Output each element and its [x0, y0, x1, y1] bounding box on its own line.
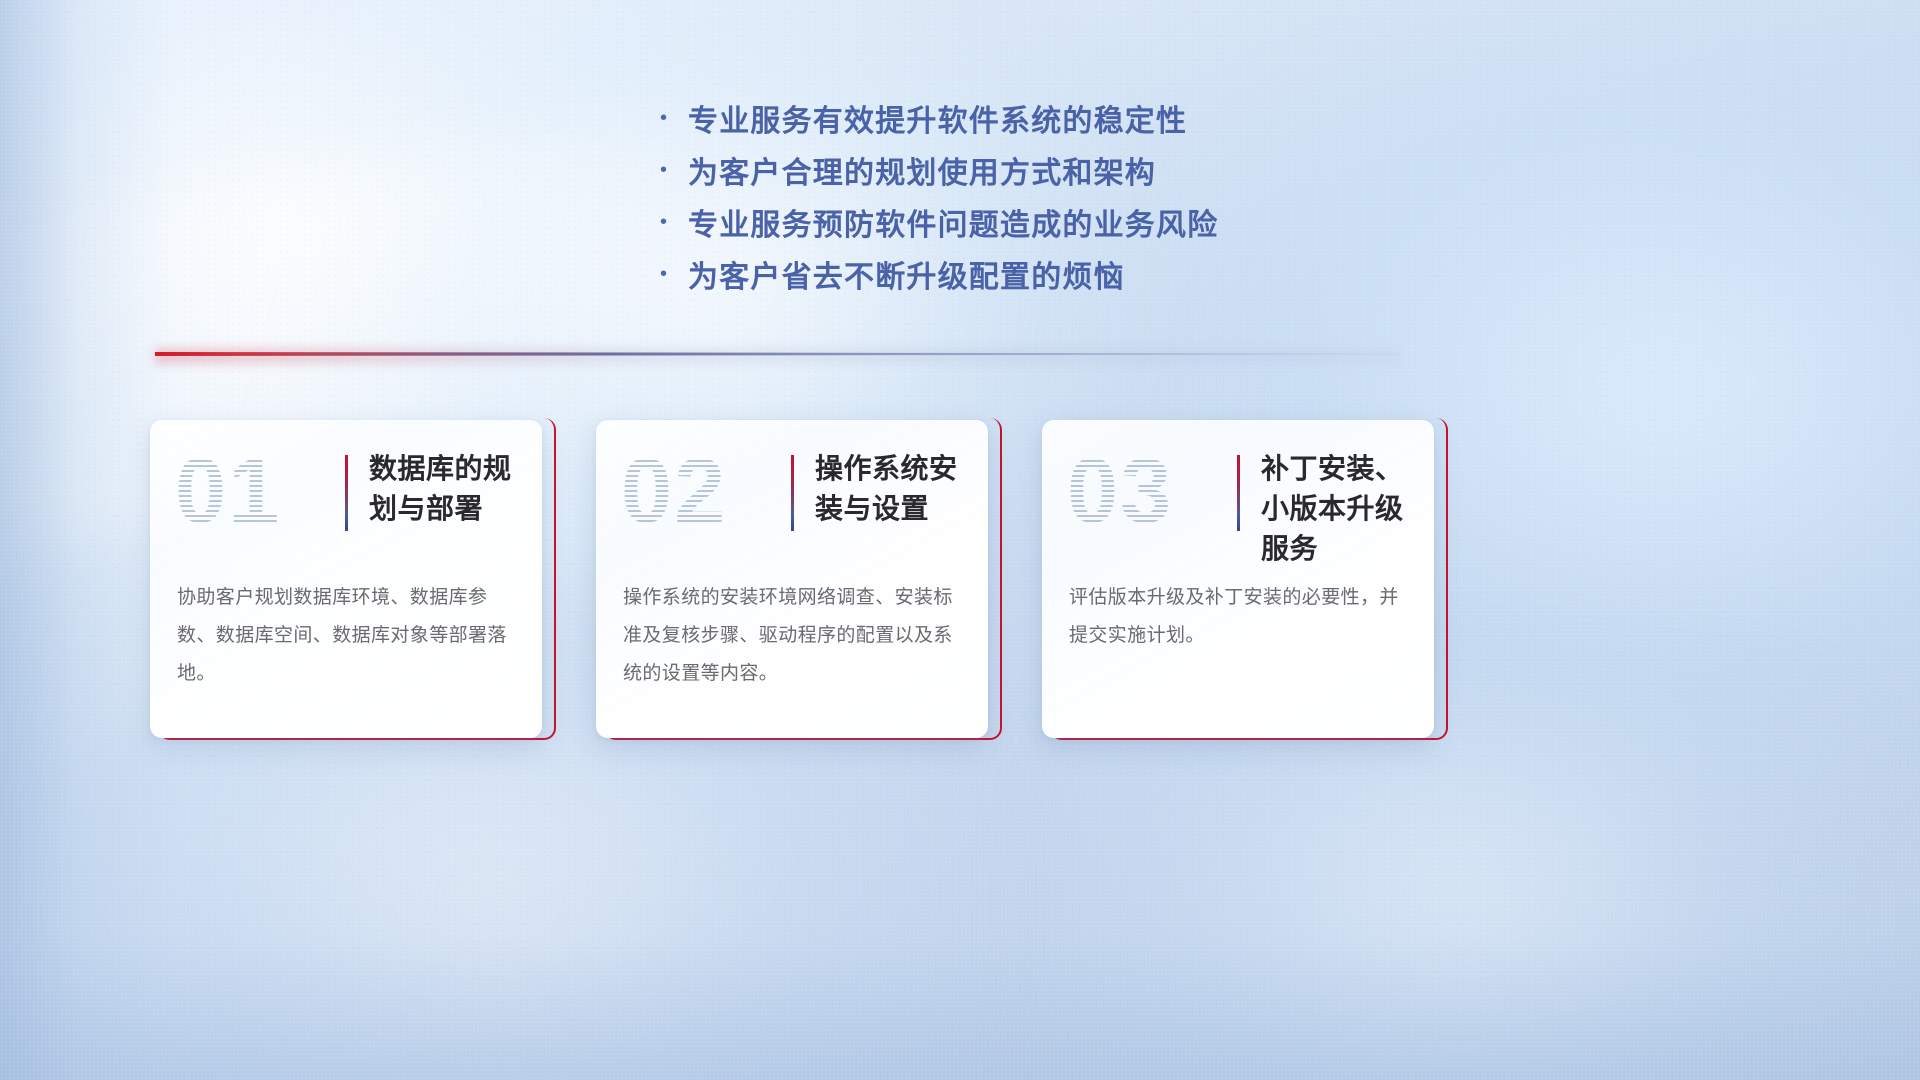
card-accent-bar [1237, 455, 1240, 531]
card-description: 协助客户规划数据库环境、数据库参数、数据库空间、数据库对象等部署落地。 [177, 579, 519, 693]
card-description: 操作系统的安装环境网络调查、安装标准及复核步骤、驱动程序的配置以及系统的设置等内… [623, 579, 965, 693]
service-card-01[interactable]: 01 数据库的规划与部署 协助客户规划数据库环境、数据库参数、数据库空间、数据库… [150, 420, 548, 742]
card-description: 评估版本升级及补丁安装的必要性，并提交实施计划。 [1069, 579, 1411, 655]
list-item: • 专业服务预防软件问题造成的业务风险 [660, 196, 1420, 248]
bullet-marker-icon: • [660, 212, 688, 232]
bullet-marker-icon: • [660, 264, 688, 284]
card-number-watermark: 02 [621, 445, 727, 537]
divider-glow [155, 348, 1400, 364]
card-surface: 01 数据库的规划与部署 协助客户规划数据库环境、数据库参数、数据库空间、数据库… [150, 420, 542, 738]
bullet-text: 为客户省去不断升级配置的烦恼 [688, 252, 1125, 296]
card-number-watermark: 01 [175, 445, 281, 537]
card-surface: 03 补丁安装、小版本升级服务 评估版本升级及补丁安装的必要性，并提交实施计划。 [1042, 420, 1434, 738]
card-header: 02 操作系统安装与设置 [597, 421, 987, 571]
list-item: • 为客户合理的规划使用方式和架构 [660, 144, 1420, 196]
card-header: 03 补丁安装、小版本升级服务 [1043, 421, 1433, 571]
list-item: • 专业服务有效提升软件系统的稳定性 [660, 92, 1420, 144]
card-title: 操作系统安装与设置 [815, 449, 975, 529]
card-number-watermark: 03 [1067, 445, 1173, 537]
card-title: 数据库的规划与部署 [369, 449, 529, 529]
bullet-text: 专业服务预防软件问题造成的业务风险 [688, 200, 1218, 244]
service-card-grid: 01 数据库的规划与部署 协助客户规划数据库环境、数据库参数、数据库空间、数据库… [150, 420, 1440, 742]
gradient-divider [155, 348, 1400, 364]
card-accent-bar [345, 455, 348, 531]
service-card-02[interactable]: 02 操作系统安装与设置 操作系统的安装环境网络调查、安装标准及复核步骤、驱动程… [596, 420, 994, 742]
bullet-marker-icon: • [660, 108, 688, 128]
list-item: • 为客户省去不断升级配置的烦恼 [660, 248, 1420, 300]
service-card-03[interactable]: 03 补丁安装、小版本升级服务 评估版本升级及补丁安装的必要性，并提交实施计划。 [1042, 420, 1440, 742]
card-header: 01 数据库的规划与部署 [151, 421, 541, 571]
bullet-text: 为客户合理的规划使用方式和架构 [688, 148, 1156, 192]
benefits-bullet-list: • 专业服务有效提升软件系统的稳定性 • 为客户合理的规划使用方式和架构 • 专… [660, 92, 1420, 300]
card-title: 补丁安装、小版本升级服务 [1261, 449, 1421, 568]
card-accent-bar [791, 455, 794, 531]
card-surface: 02 操作系统安装与设置 操作系统的安装环境网络调查、安装标准及复核步骤、驱动程… [596, 420, 988, 738]
bullet-marker-icon: • [660, 160, 688, 180]
bullet-text: 专业服务有效提升软件系统的稳定性 [688, 96, 1187, 140]
